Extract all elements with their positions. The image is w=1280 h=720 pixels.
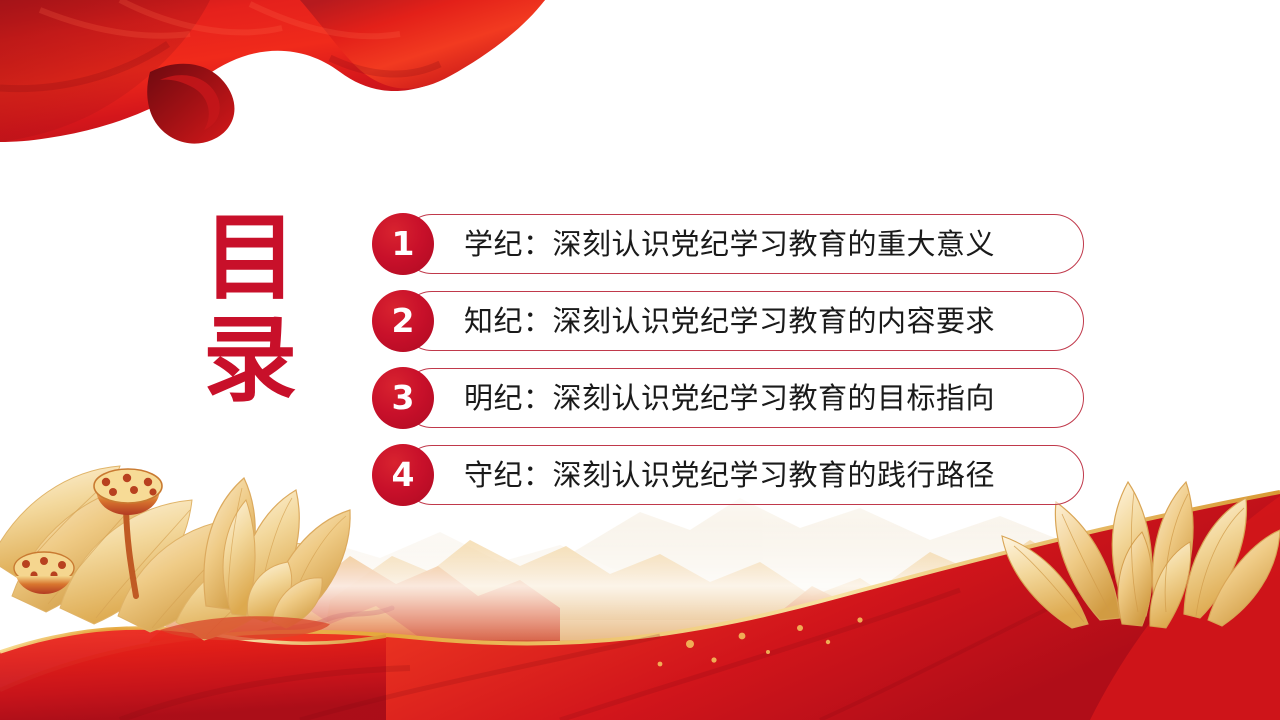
toc-item-4[interactable]: 4 守纪：深刻认识党纪学习教育的践行路径 [372, 445, 1084, 505]
slide-content: 目 录 1 学纪：深刻认识党纪学习教育的重大意义 2 知纪：深刻认识党纪学习教育… [0, 0, 1280, 720]
toc-item-label-2: 知纪：深刻认识党纪学习教育的内容要求 [464, 291, 1050, 351]
toc-item-number-badge-2: 2 [372, 290, 434, 352]
toc-list: 1 学纪：深刻认识党纪学习教育的重大意义 2 知纪：深刻认识党纪学习教育的内容要… [372, 214, 1084, 505]
toc-item-3[interactable]: 3 明纪：深刻认识党纪学习教育的目标指向 [372, 368, 1084, 428]
toc-item-number-badge-3: 3 [372, 367, 434, 429]
toc-item-number-badge-4: 4 [372, 444, 434, 506]
page-title-char-2: 录 [186, 316, 316, 406]
toc-item-number-badge-1: 1 [372, 213, 434, 275]
page-title: 目 录 [186, 214, 316, 406]
toc-item-label-3: 明纪：深刻认识党纪学习教育的目标指向 [464, 368, 1050, 428]
page-title-char-1: 目 [186, 214, 316, 304]
toc-item-1[interactable]: 1 学纪：深刻认识党纪学习教育的重大意义 [372, 214, 1084, 274]
toc-item-label-4: 守纪：深刻认识党纪学习教育的践行路径 [464, 445, 1050, 505]
slide-canvas: 目 录 1 学纪：深刻认识党纪学习教育的重大意义 2 知纪：深刻认识党纪学习教育… [0, 0, 1280, 720]
toc-item-label-1: 学纪：深刻认识党纪学习教育的重大意义 [464, 214, 1050, 274]
toc-item-2[interactable]: 2 知纪：深刻认识党纪学习教育的内容要求 [372, 291, 1084, 351]
